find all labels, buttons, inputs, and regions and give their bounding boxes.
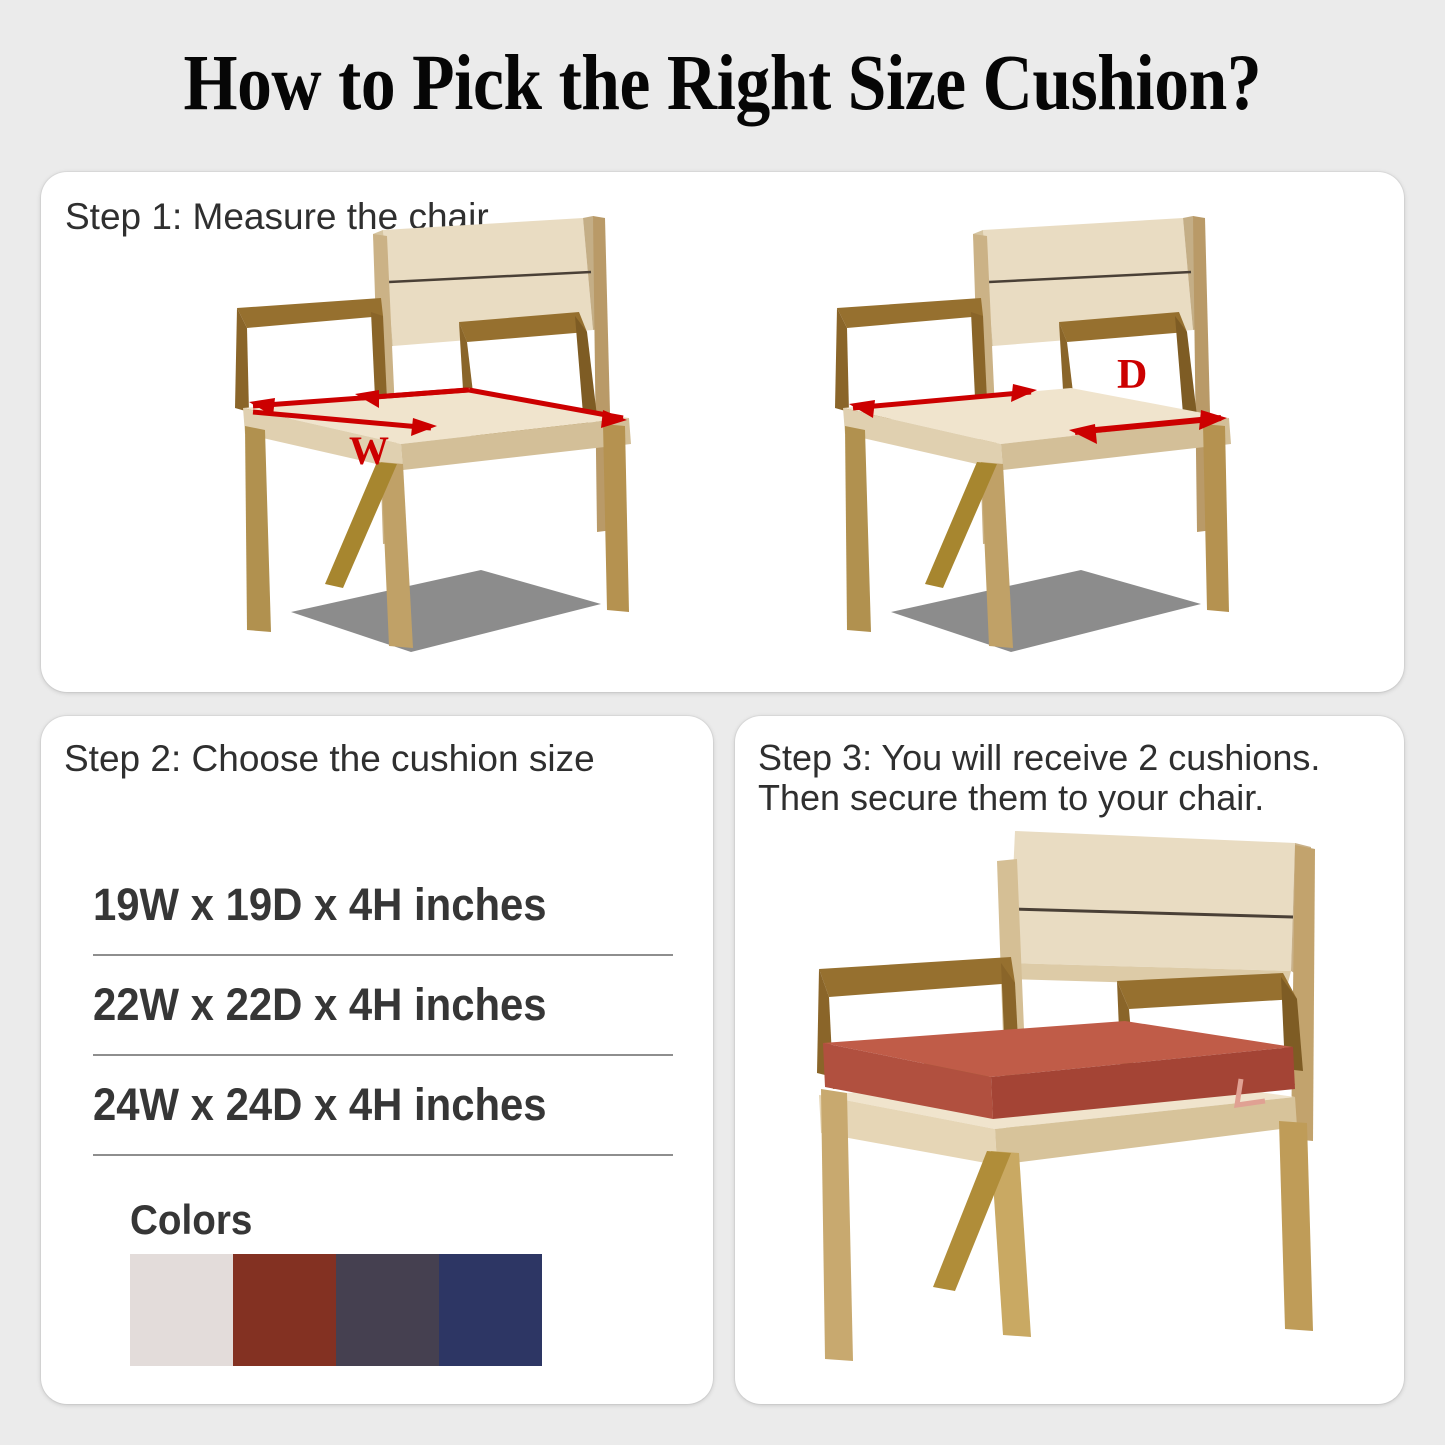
step-3-label-line1: Step 3: You will receive 2 cushions.: [758, 738, 1320, 778]
color-swatch-charcoal[interactable]: [336, 1254, 439, 1366]
size-option-label: 22W x 22D x 4H inches: [93, 979, 547, 1031]
cushion-size-list: 19W x 19D x 4H inches 22W x 22D x 4H inc…: [93, 856, 673, 1156]
step-3-card: Step 3: You will receive 2 cushions. The…: [735, 716, 1404, 1404]
step-1-card: Step 1: Measure the chair: [41, 172, 1404, 692]
w-label: W: [349, 428, 389, 473]
size-option-row[interactable]: 24W x 24D x 4H inches: [93, 1056, 673, 1156]
colors-heading: Colors: [130, 1196, 252, 1244]
color-swatch-navy[interactable]: [439, 1254, 542, 1366]
color-swatch-rust-red[interactable]: [233, 1254, 336, 1366]
step-2-label: Step 2: Choose the cushion size: [64, 738, 595, 779]
size-option-row[interactable]: 22W x 22D x 4H inches: [93, 956, 673, 1056]
page-title: How to Pick the Right Size Cushion?: [184, 39, 1262, 129]
color-swatch-strip: [130, 1254, 542, 1366]
step-3-label: Step 3: You will receive 2 cushions. The…: [758, 738, 1320, 819]
chair-with-cushion-illustration: [795, 821, 1375, 1391]
size-option-label: 24W x 24D x 4H inches: [93, 1079, 547, 1131]
size-option-row[interactable]: 19W x 19D x 4H inches: [93, 856, 673, 956]
d-label: D: [1117, 352, 1147, 398]
chair-depth-illustration: D: [831, 212, 1251, 662]
size-option-label: 19W x 19D x 4H inches: [93, 879, 547, 931]
step-3-label-line2: Then secure them to your chair.: [758, 778, 1320, 818]
chair-width-illustration: W: [231, 212, 651, 662]
page-title-bar: How to Pick the Right Size Cushion?: [0, 0, 1445, 168]
color-swatch-cream[interactable]: [130, 1254, 233, 1366]
